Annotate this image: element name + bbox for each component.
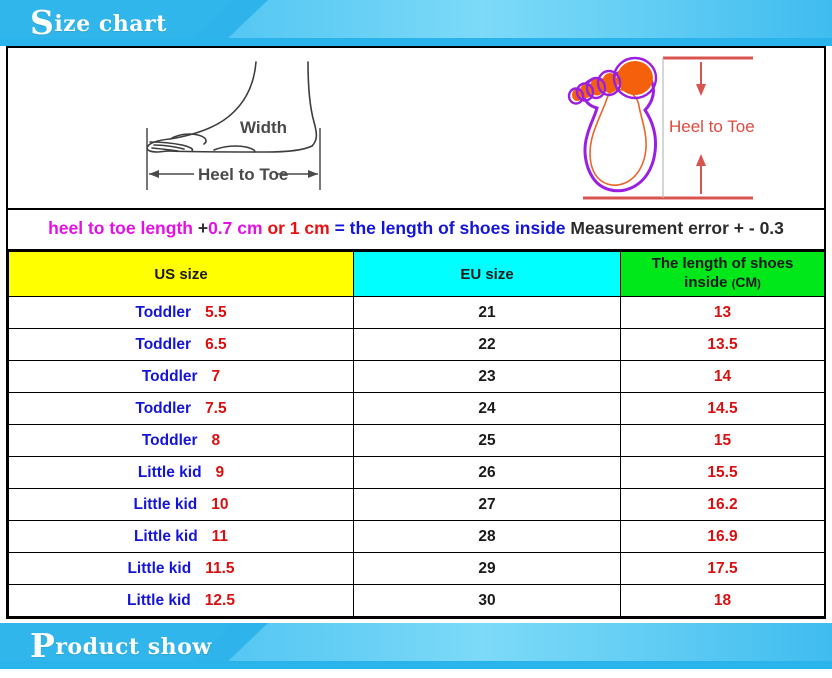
table-row: Toddler6.52213.5 [9,329,825,361]
size-chart-banner: Size chart [0,0,832,46]
us-size-label: Little kid [134,496,198,513]
us-size-label: Toddler [142,368,198,385]
us-size-label: Toddler [142,432,198,449]
us-size-number: 9 [216,464,225,481]
us-size-number: 12.5 [205,592,235,609]
us-size-label: Little kid [127,592,191,609]
cell-us-size: Toddler7.5 [9,393,354,425]
cell-shoe-length: 13 [621,297,825,329]
note-part-5: Measurement [570,218,683,238]
footprint-icon: Heel to Toe [553,48,783,208]
us-size-number: 10 [211,496,228,513]
cell-us-size: Little kid11.5 [9,553,354,585]
shoe-length-line-2: inside [684,274,727,291]
cell-us-size: Toddler7 [9,361,354,393]
column-header-eu-size: EU size [354,252,621,297]
footprint-top-view-diagram: Heel to Toe [553,48,783,208]
size-chart-page: Size chart [0,0,832,678]
column-header-shoe-length: The length of shoes inside (CM) [621,252,825,297]
note-part-6: error + - 0.3 [688,218,784,238]
us-size-number: 5.5 [205,304,227,321]
us-size-number: 7 [212,368,221,385]
note-plus: + [198,218,208,238]
us-size-number: 11.5 [205,560,234,577]
table-row: Toddler5.52113 [9,297,825,329]
cell-us-size: Little kid10 [9,489,354,521]
cell-shoe-length: 16.9 [621,521,825,553]
cell-eu-size: 30 [354,585,621,617]
table-row: Little kid112816.9 [9,521,825,553]
product-show-banner: Product show [0,623,832,669]
cell-us-size: Toddler6.5 [9,329,354,361]
table-row: Toddler82515 [9,425,825,457]
cell-us-size: Little kid11 [9,521,354,553]
note-part-1: heel to toe length [48,218,193,238]
cell-eu-size: 25 [354,425,621,457]
foot-side-view-diagram: Width Heel to Toe [128,50,428,206]
us-size-number: 6.5 [205,336,227,353]
size-table-body: Toddler5.52113Toddler6.52213.5Toddler723… [9,297,825,617]
shoe-length-line-1: The length of shoes [652,255,794,272]
cell-shoe-length: 16.2 [621,489,825,521]
cell-us-size: Toddler8 [9,425,354,457]
cell-shoe-length: 15.5 [621,457,825,489]
size-table: US size EU size The length of shoes insi… [8,251,825,617]
table-row: Little kid102716.2 [9,489,825,521]
product-title-dropcap: P [30,626,55,665]
us-size-number: 11 [212,528,228,545]
cell-shoe-length: 17.5 [621,553,825,585]
title-rest: ize chart [54,11,166,37]
heel-to-toe-label-side: Heel to Toe [198,165,288,184]
heel-to-toe-label-top: Heel to Toe [669,117,755,136]
column-header-us-size: US size [9,252,354,297]
width-label: Width [240,118,287,137]
cell-us-size: Toddler5.5 [9,297,354,329]
cell-us-size: Little kid9 [9,457,354,489]
note-part-2: 0.7 cm [208,218,262,238]
table-header-row: US size EU size The length of shoes insi… [9,252,825,297]
cell-shoe-length: 13.5 [621,329,825,361]
table-row: Little kid11.52917.5 [9,553,825,585]
measurement-note: heel to toe length +0.7 cm or 1 cm = the… [8,210,824,251]
us-size-number: 8 [212,432,221,449]
us-size-label: Little kid [138,464,202,481]
us-size-label: Toddler [135,336,191,353]
table-row: Little kid92615.5 [9,457,825,489]
us-size-label: Toddler [135,400,191,417]
us-size-label: Little kid [127,560,191,577]
cell-eu-size: 22 [354,329,621,361]
cell-eu-size: 27 [354,489,621,521]
foot-measurement-diagrams: Width Heel to Toe [8,48,824,210]
note-part-3: or 1 cm [267,218,329,238]
cell-eu-size: 23 [354,361,621,393]
us-size-number: 7.5 [205,400,227,417]
title-dropcap: S [30,3,54,42]
chart-body: Width Heel to Toe [6,46,826,619]
page-title: Size chart [30,7,167,40]
foot-side-view-icon: Width Heel to Toe [128,50,428,206]
product-show-title: Product show [30,630,212,663]
table-row: Toddler72314 [9,361,825,393]
product-title-rest: roduct show [55,634,211,660]
table-row: Toddler7.52414.5 [9,393,825,425]
us-size-label: Little kid [134,528,198,545]
cell-eu-size: 26 [354,457,621,489]
cell-eu-size: 28 [354,521,621,553]
shoe-length-unit: (CM) [732,278,761,290]
cell-eu-size: 21 [354,297,621,329]
cell-shoe-length: 14 [621,361,825,393]
cell-us-size: Little kid12.5 [9,585,354,617]
us-size-label: Toddler [135,304,191,321]
cell-shoe-length: 14.5 [621,393,825,425]
cell-eu-size: 24 [354,393,621,425]
note-part-4: = the length of shoes inside [335,218,566,238]
table-row: Little kid12.53018 [9,585,825,617]
cell-shoe-length: 15 [621,425,825,457]
cell-shoe-length: 18 [621,585,825,617]
cell-eu-size: 29 [354,553,621,585]
